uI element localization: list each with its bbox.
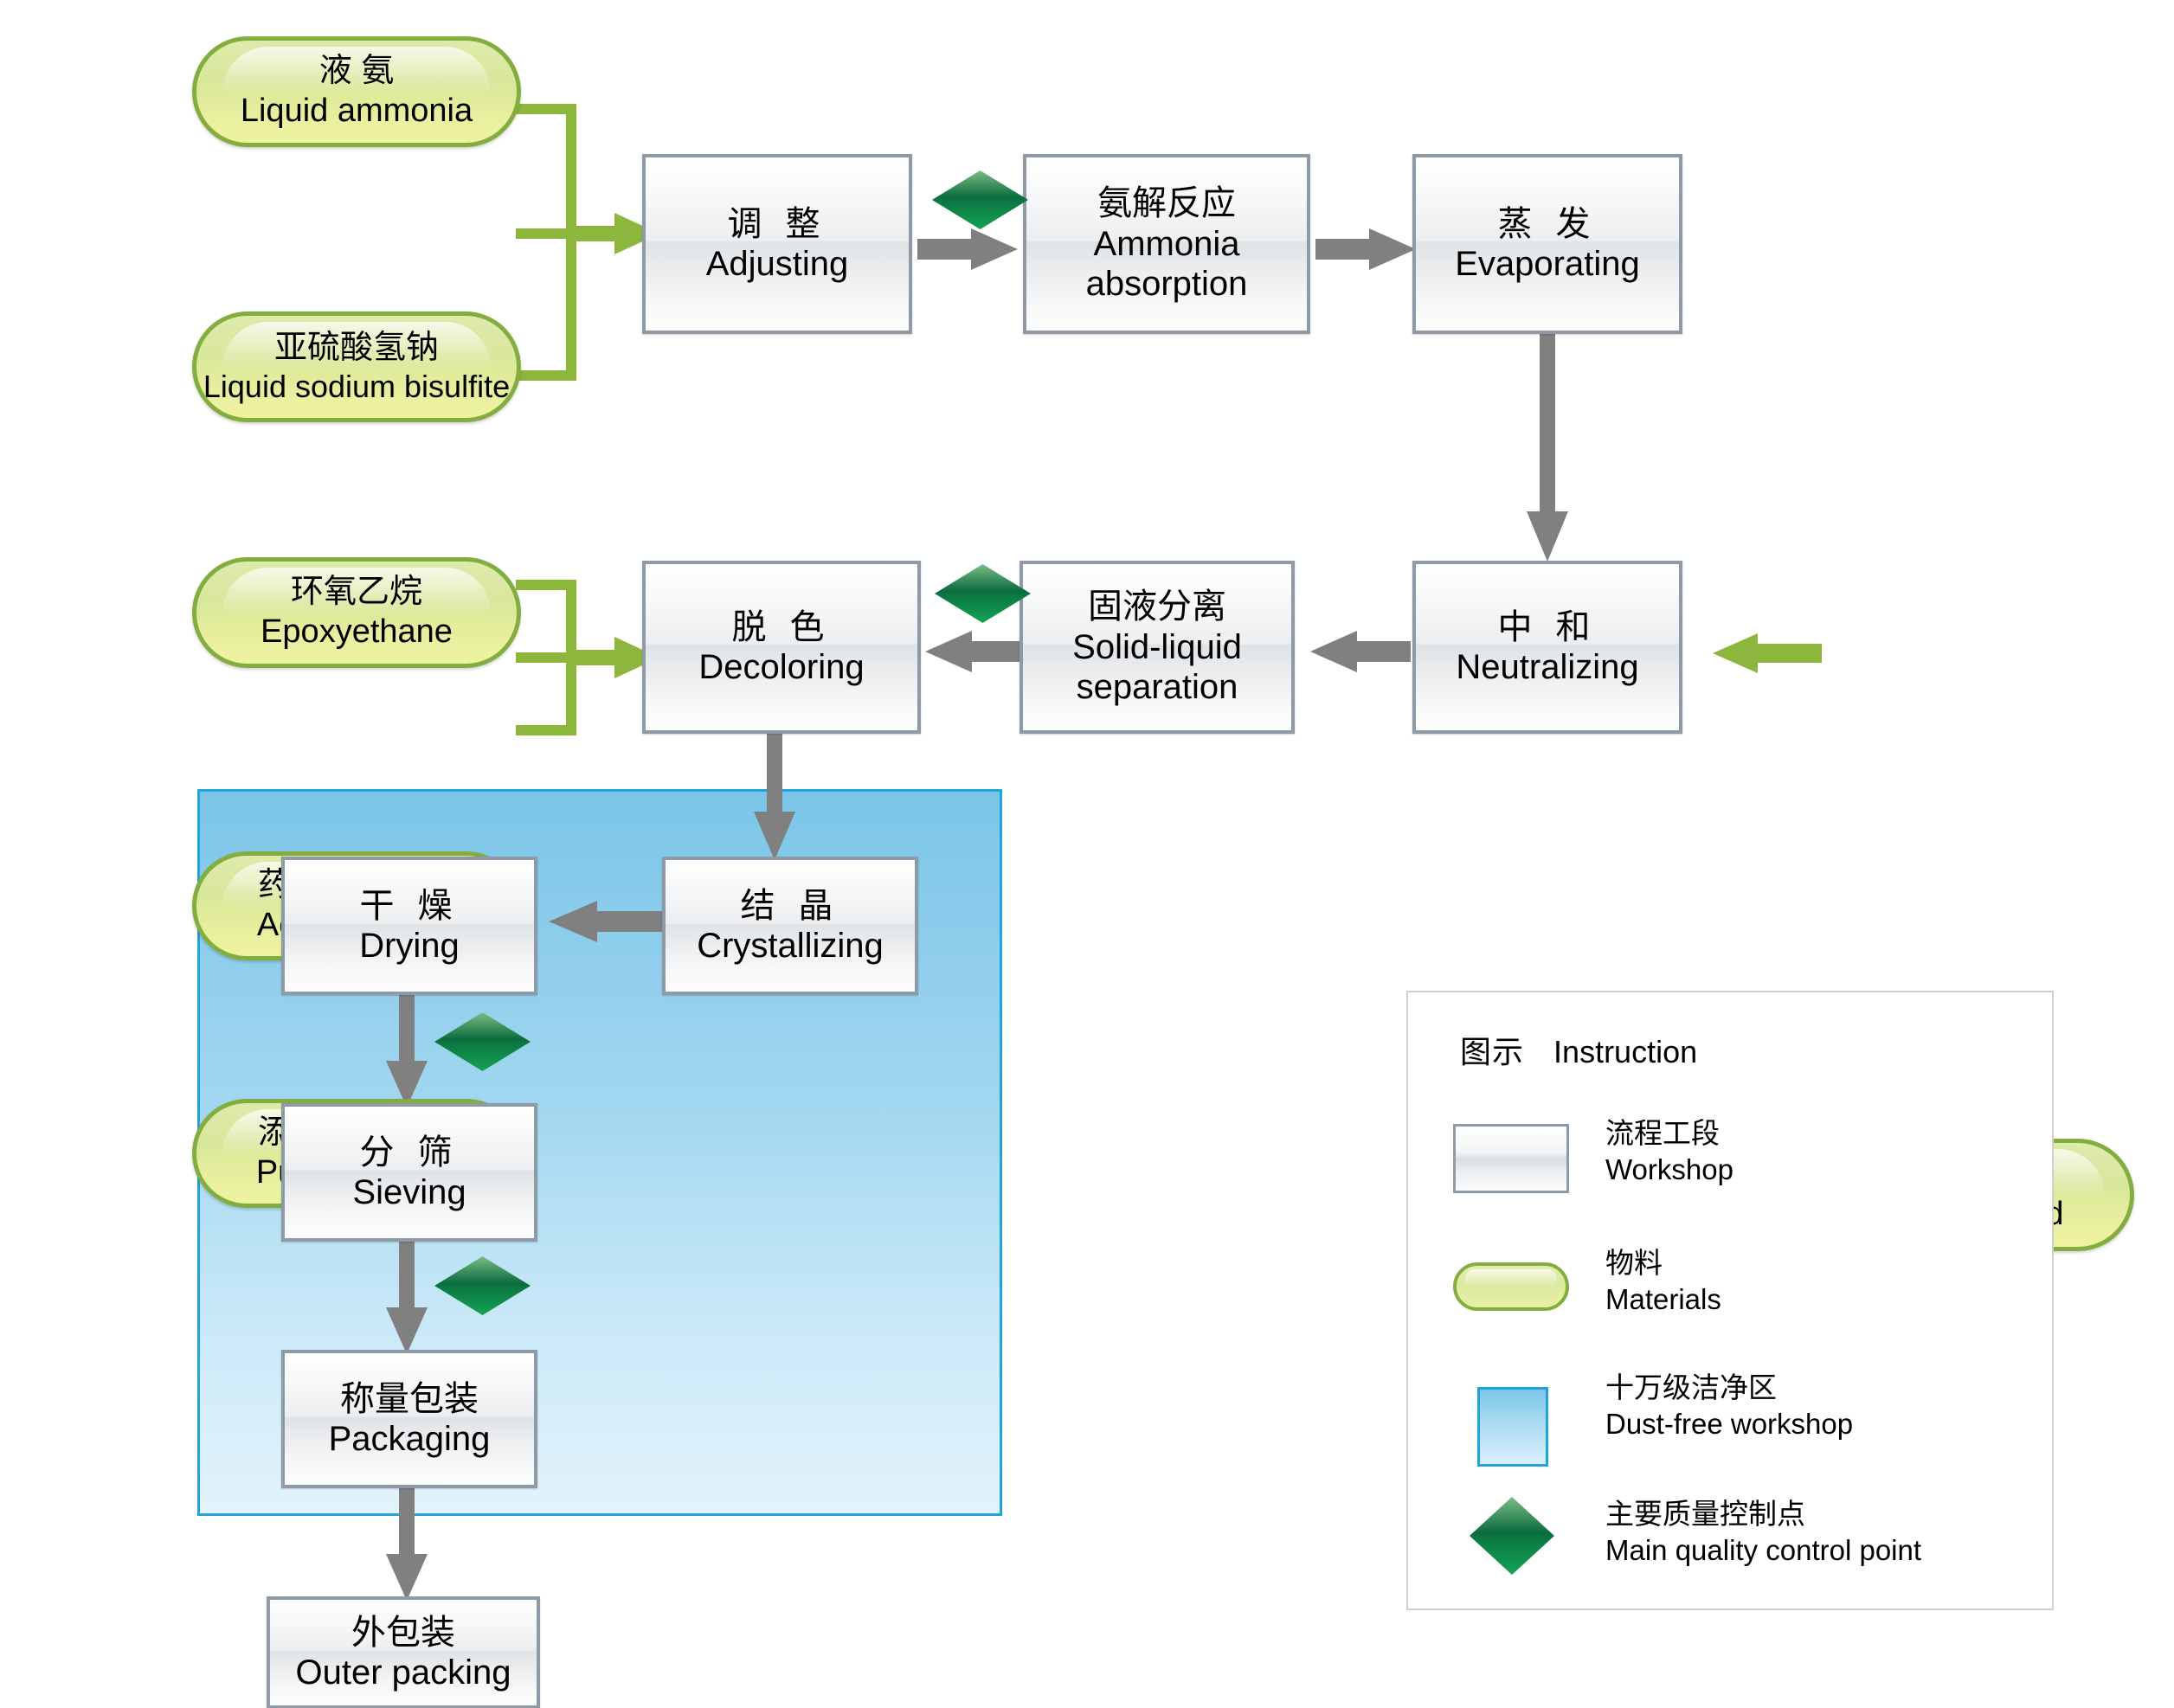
material-epoxyethane[interactable]: 环氧乙烷 Epoxyethane <box>192 557 521 668</box>
process-label-en: Outer packing <box>295 1653 511 1692</box>
process-label-en: Neutralizing <box>1456 647 1638 687</box>
legend-item-quality-point: 主要质量控制点 Main quality control point <box>1408 992 2052 1608</box>
process-label-cn: 脱 色 <box>731 607 831 647</box>
material-label-en: Liquid sodium bisulfite <box>203 368 510 405</box>
adjusting-to-ammonia-arrow <box>917 223 1021 275</box>
process-flow-diagram: 液 氨 Liquid ammonia 亚硫酸氢钠 Liquid sodium b… <box>0 0 2174 1708</box>
process-label-en: Sieving <box>352 1172 466 1212</box>
legend-label-quality-point: 主要质量控制点 Main quality control point <box>1605 1496 1921 1569</box>
process-crystallizing[interactable]: 结 晶 Crystallizing <box>662 857 918 995</box>
process-label-cn: 固液分离 <box>1088 587 1226 626</box>
process-packaging[interactable]: 称量包装 Packaging <box>281 1350 537 1488</box>
process-label-cn: 氨解反应 <box>1097 183 1236 223</box>
drying-to-sieving-arrow <box>381 986 433 1112</box>
process-label-cn: 结 晶 <box>740 886 839 926</box>
material-sodium-bisulfite[interactable]: 亚硫酸氢钠 Liquid sodium bisulfite <box>192 311 521 422</box>
material-liquid-ammonia[interactable]: 液 氨 Liquid ammonia <box>192 36 521 147</box>
process-label-cn: 外包装 <box>351 1613 455 1653</box>
neutralizing-to-solid-liquid-arrow <box>1298 626 1411 677</box>
process-neutralizing[interactable]: 中 和 Neutralizing <box>1412 561 1682 734</box>
process-label-cn: 分 筛 <box>359 1133 459 1172</box>
process-label-en: Drying <box>359 926 460 966</box>
process-sieving[interactable]: 分 筛 Sieving <box>281 1103 537 1242</box>
quality-point-diamond-adjusting <box>930 169 1030 231</box>
process-label-cn: 称量包装 <box>340 1379 479 1419</box>
process-label-en: Adjusting <box>706 244 849 284</box>
material-label-en: Liquid ammonia <box>241 92 473 132</box>
process-adjusting[interactable]: 调 整 Adjusting <box>642 154 912 334</box>
evaporating-to-neutralizing-arrow <box>1521 333 1573 567</box>
decoloring-to-crystallizing-arrow <box>749 727 801 865</box>
process-label-en: Solid-liquid separation <box>1040 627 1274 708</box>
process-label-cn: 调 整 <box>727 204 827 244</box>
quality-point-diamond-sieving <box>433 1255 532 1317</box>
process-ammonia-absorption[interactable]: 氨解反应 Ammonia absorption <box>1023 154 1310 334</box>
process-label-en: Evaporating <box>1455 244 1639 284</box>
process-decoloring[interactable]: 脱 色 Decoloring <box>642 561 921 734</box>
process-label-en: Crystallizing <box>697 926 884 966</box>
quality-point-diamond-decoloring <box>933 562 1032 625</box>
process-label-cn: 干 燥 <box>359 886 459 926</box>
solid-liquid-to-decoloring-arrow <box>913 626 1026 677</box>
process-outer-packing[interactable]: 外包装 Outer packing <box>267 1596 540 1708</box>
process-label-en: Ammonia absorption <box>1045 224 1288 305</box>
ammonia-to-evaporating-arrow <box>1315 223 1419 275</box>
process-label-cn: 中 和 <box>1497 607 1597 647</box>
material-label-cn: 液 氨 <box>319 52 395 92</box>
green-diamond-icon <box>1467 1494 1557 1577</box>
crystallizing-to-drying-arrow <box>537 896 666 947</box>
quality-point-diamond-drying <box>433 1011 532 1073</box>
process-evaporating[interactable]: 蒸 发 Evaporating <box>1412 154 1682 334</box>
sieving-to-packaging-arrow <box>381 1233 433 1358</box>
packaging-to-outer-packing-arrow <box>381 1480 433 1605</box>
legend-label-cn: 主要质量控制点 <box>1605 1496 1921 1532</box>
process-solid-liquid-separation[interactable]: 固液分离 Solid-liquid separation <box>1019 561 1295 734</box>
material-label-en: Epoxyethane <box>260 613 453 652</box>
legend-label-en: Main quality control point <box>1605 1532 1921 1569</box>
process-label-en: Decoloring <box>698 647 864 687</box>
process-label-en: Packaging <box>329 1419 491 1459</box>
process-label-cn: 蒸 发 <box>1497 204 1597 244</box>
process-drying[interactable]: 干 燥 Drying <box>281 857 537 995</box>
material-label-cn: 亚硫酸氢钠 <box>274 329 439 369</box>
material-label-cn: 环氧乙烷 <box>291 573 422 613</box>
sulfuric-acid-to-neutralizing-arrow <box>1709 623 1822 684</box>
legend-panel: 图示 Instruction 流程工段 Workshop 物料 Material… <box>1406 991 2054 1610</box>
